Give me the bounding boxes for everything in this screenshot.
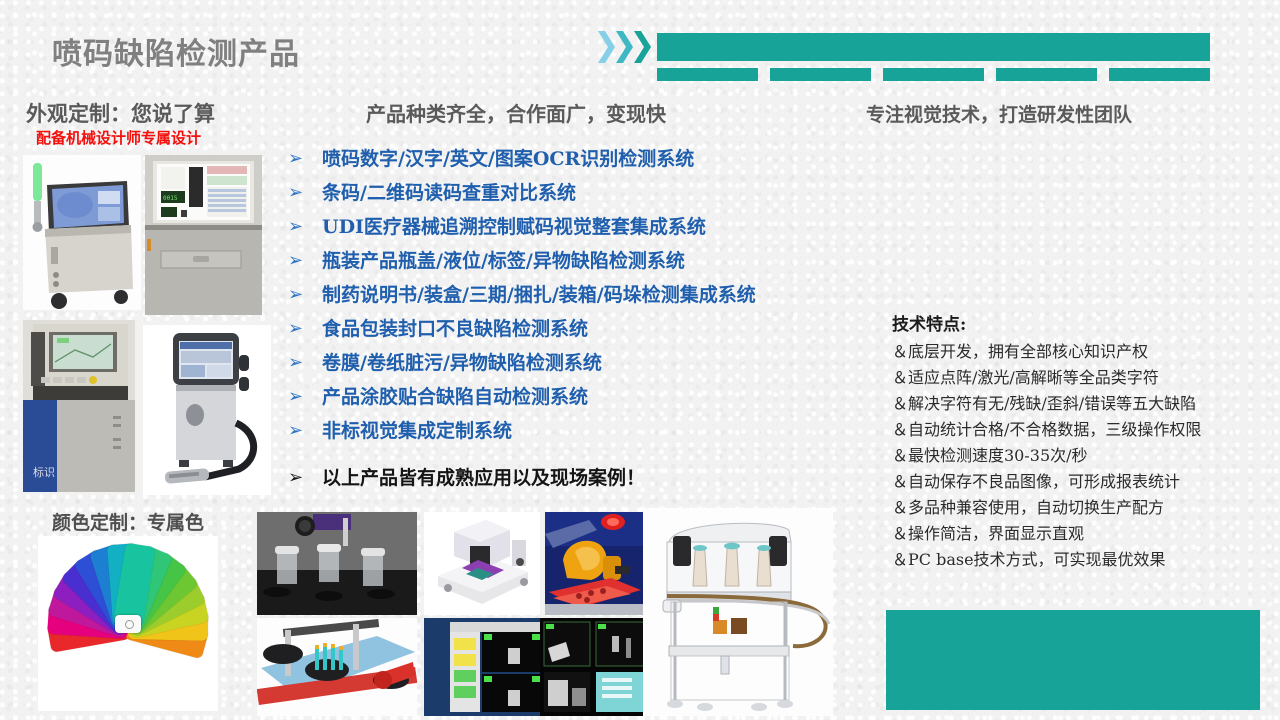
chevron-right-icon bbox=[634, 30, 651, 64]
arrow-bullet-icon: ➢ bbox=[288, 178, 322, 208]
closing-statement: 以上产品皆有成熟应用以及现场案例！ bbox=[322, 463, 645, 493]
inspection-kiosk-photo bbox=[23, 155, 141, 310]
arrow-bullet-icon: ➢ bbox=[288, 463, 322, 493]
page-title: 喷码缺陷检测产品 bbox=[52, 29, 300, 73]
tech-features-panel: 技术特点: ＆底层开发，拥有全部核心知识产权 ＆适应点阵/激光/高解晰等全品类字… bbox=[892, 310, 1262, 573]
chevron-right-icon bbox=[616, 30, 633, 64]
tech-feature-line: ＆适应点阵/激光/高解晰等全品类字符 bbox=[892, 365, 1262, 391]
chevron-arrows-group bbox=[598, 30, 651, 64]
banner-segment bbox=[996, 68, 1097, 81]
tech-feature-line: ＆最快检测速度30-35次/秒 bbox=[892, 443, 1262, 469]
arrow-bullet-icon: ➢ bbox=[288, 144, 322, 174]
header-banner-segments bbox=[657, 68, 1210, 81]
list-item: ➢ 非标视觉集成定制系统 bbox=[288, 416, 908, 450]
arrow-bullet-icon: ➢ bbox=[288, 382, 322, 412]
tech-feature-line: ＆PC base技术方式，可实现最优效果 bbox=[892, 547, 1262, 573]
color-section-title: 颜色定制：专属色 bbox=[52, 508, 204, 535]
list-item: ➢ 条码/二维码读码查重对比系统 bbox=[288, 178, 908, 212]
list-item: ➢ 产品涂胶贴合缺陷自动检测系统 bbox=[288, 382, 908, 416]
list-item-label: 瓶装产品瓶盖/液位/标签/异物缺陷检测系统 bbox=[322, 246, 685, 276]
stainless-cabinet-photo: 0015 bbox=[145, 155, 262, 315]
fan-hub-icon bbox=[115, 615, 141, 633]
arrow-bullet-icon: ➢ bbox=[288, 314, 322, 344]
conveyor-cad-render bbox=[257, 618, 417, 716]
list-item-label: 食品包装封口不良缺陷检测系统 bbox=[322, 314, 588, 344]
list-item: ➢ 瓶装产品瓶盖/液位/标签/异物缺陷检测系统 bbox=[288, 246, 908, 280]
tech-panel-title: 技术特点: bbox=[892, 310, 1262, 335]
tech-feature-line: ＆多品种兼容使用，自动切换生产配方 bbox=[892, 495, 1262, 521]
vial-inspection-photo bbox=[257, 512, 417, 615]
arrow-bullet-icon: ➢ bbox=[288, 246, 322, 276]
list-item: ➢ 食品包装封口不良缺陷检测系统 bbox=[288, 314, 908, 348]
list-item-label: UDI医疗器械追溯控制赋码视觉整套集成系统 bbox=[322, 212, 706, 242]
blue-console-photo: 标识 bbox=[23, 320, 135, 492]
chevron-right-icon bbox=[598, 30, 615, 64]
arrow-bullet-icon: ➢ bbox=[288, 416, 322, 446]
heading-appearance-custom: 外观定制：您说了算 bbox=[26, 98, 215, 128]
cad-module-render bbox=[424, 512, 540, 615]
banner-segment bbox=[1109, 68, 1210, 81]
arrow-bullet-icon: ➢ bbox=[288, 280, 322, 310]
list-item: ➢ UDI医疗器械追溯控制赋码视觉整套集成系统 bbox=[288, 212, 908, 246]
list-item-label: 产品涂胶贴合缺陷自动检测系统 bbox=[322, 382, 588, 412]
list-item-label: 非标视觉集成定制系统 bbox=[322, 416, 512, 446]
list-item-label: 卷膜/卷纸脏污/异物缺陷检测系统 bbox=[322, 348, 602, 378]
list-item-label: 制药说明书/装盒/三期/捆扎/装箱/码垛检测集成系统 bbox=[322, 280, 756, 310]
accent-color-block bbox=[886, 610, 1260, 710]
tech-feature-line: ＆底层开发，拥有全部核心知识产权 bbox=[892, 339, 1262, 365]
heading-vision-team: 专注视觉技术，打造研发性团队 bbox=[866, 100, 1132, 127]
bottle-inspection-machine-render bbox=[643, 508, 833, 716]
product-list: ➢ 喷码数字/汉字/英文/图案OCR识别检测系统 ➢ 条码/二维码读码查重对比系… bbox=[288, 144, 908, 497]
inkjet-printer-photo bbox=[143, 325, 271, 495]
arrow-bullet-icon: ➢ bbox=[288, 348, 322, 378]
heading-product-variety: 产品种类齐全，合作面广，变现快 bbox=[366, 98, 666, 127]
list-item-closing: ➢ 以上产品皆有成熟应用以及现场案例！ bbox=[288, 463, 908, 497]
list-item: ➢ 制药说明书/装盒/三期/捆扎/装箱/码垛检测集成系统 bbox=[288, 280, 908, 314]
vision-display-photo bbox=[540, 618, 650, 716]
vision-software-screen bbox=[424, 618, 542, 716]
list-item-label: 喷码数字/汉字/英文/图案OCR识别检测系统 bbox=[322, 144, 694, 174]
tech-feature-line: ＆解决字符有无/残缺/歪斜/错误等五大缺陷 bbox=[892, 391, 1262, 417]
banner-segment bbox=[770, 68, 871, 81]
tech-feature-line: ＆操作简洁，界面显示直观 bbox=[892, 521, 1262, 547]
list-item: ➢ 喷码数字/汉字/英文/图案OCR识别检测系统 bbox=[288, 144, 908, 178]
tech-feature-line: ＆自动统计合格/不合格数据，三级操作权限 bbox=[892, 417, 1262, 443]
robot-arm-photo bbox=[545, 512, 645, 615]
list-item: ➢ 卷膜/卷纸脏污/异物缺陷检测系统 bbox=[288, 348, 908, 382]
color-fan-swatch bbox=[38, 536, 218, 711]
header-banner-bar bbox=[657, 33, 1210, 61]
list-item-label: 条码/二维码读码查重对比系统 bbox=[322, 178, 576, 208]
arrow-bullet-icon: ➢ bbox=[288, 212, 322, 242]
banner-segment bbox=[657, 68, 758, 81]
subheading-designer-note: 配备机械设计师专属设计 bbox=[36, 127, 201, 148]
svg-text:0015: 0015 bbox=[163, 195, 178, 202]
tech-feature-line: ＆自动保存不良品图像，可形成报表统计 bbox=[892, 469, 1262, 495]
slide-canvas: 喷码缺陷检测产品 外观定制：您说了算 配备机械设计师专属设计 产品种类齐全，合作… bbox=[0, 0, 1280, 720]
banner-segment bbox=[883, 68, 984, 81]
svg-text:标识: 标识 bbox=[33, 465, 55, 479]
